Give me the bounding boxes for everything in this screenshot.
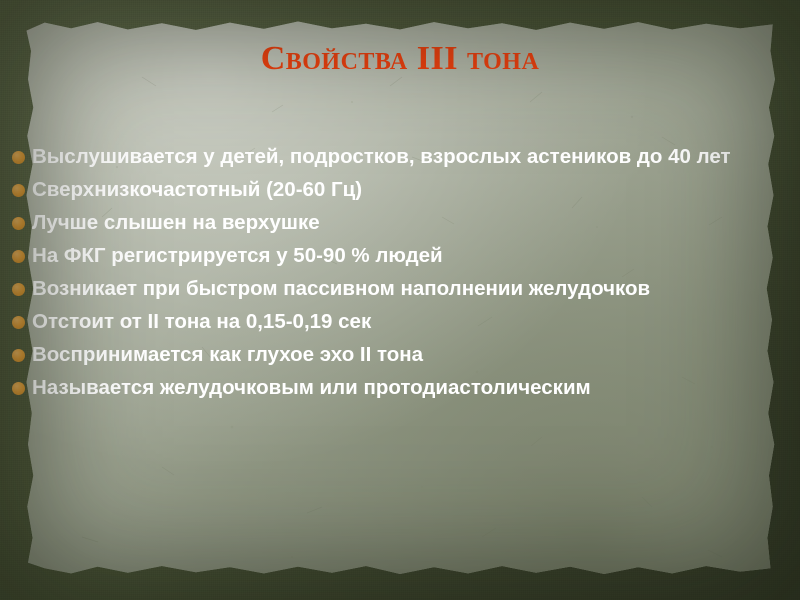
bullet-dot-icon xyxy=(12,349,25,362)
list-item: Называется желудочковым или протодиастол… xyxy=(10,374,778,401)
list-item: Воспринимается как глухое эхо II тона xyxy=(10,341,778,368)
bullet-dot-icon xyxy=(12,217,25,230)
list-item: Лучше слышен на верхушке xyxy=(10,209,778,236)
bullet-dot-icon xyxy=(12,382,25,395)
bullet-dot-icon xyxy=(12,283,25,296)
list-item-text: Выслушивается у детей, подростков, взрос… xyxy=(32,143,778,170)
bullet-dot-icon xyxy=(12,151,25,164)
list-item-text: Называется желудочковым или протодиастол… xyxy=(32,374,778,401)
list-item: Сверхнизкочастотный (20-60 Гц) xyxy=(10,176,778,203)
slide-title: Свойства III тона xyxy=(0,38,800,80)
list-item: Отстоит от II тона на 0,15-0,19 сек xyxy=(10,308,778,335)
list-item-text: Сверхнизкочастотный (20-60 Гц) xyxy=(32,176,778,203)
list-item-text: На ФКГ регистрируется у 50-90 % людей xyxy=(32,242,778,269)
list-item: Возникает при быстром пассивном наполнен… xyxy=(10,275,778,302)
list-item: Выслушивается у детей, подростков, взрос… xyxy=(10,143,778,170)
bullet-list: Выслушивается у детей, подростков, взрос… xyxy=(10,143,778,407)
bullet-dot-icon xyxy=(12,250,25,263)
list-item-text: Лучше слышен на верхушке xyxy=(32,209,778,236)
bullet-dot-icon xyxy=(12,184,25,197)
presentation-slide: Свойства III тона Выслушивается у детей,… xyxy=(0,0,800,600)
list-item: На ФКГ регистрируется у 50-90 % людей xyxy=(10,242,778,269)
list-item-text: Отстоит от II тона на 0,15-0,19 сек xyxy=(32,308,778,335)
list-item-text: Воспринимается как глухое эхо II тона xyxy=(32,341,778,368)
list-item-text: Возникает при быстром пассивном наполнен… xyxy=(32,275,778,302)
bullet-dot-icon xyxy=(12,316,25,329)
